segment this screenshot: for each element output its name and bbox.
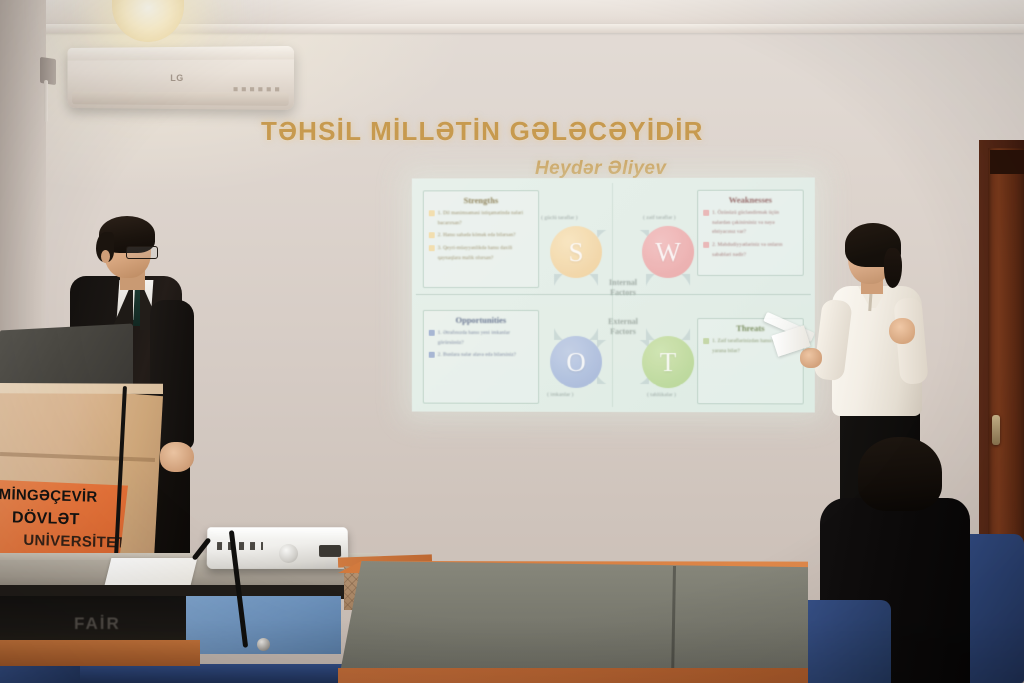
male-clasped-hands bbox=[160, 442, 194, 472]
ac-drain-pipe bbox=[44, 80, 48, 122]
slide-headline: TƏHSİL MİLLƏTİN GƏLƏCƏYİDİR bbox=[261, 116, 691, 147]
weaknesses-bracket-label: ( zəif tərəflər ) bbox=[643, 215, 676, 221]
opportunities-item-2: 2. Bunlara nələr əlavə edə bilərsiniz? bbox=[438, 351, 516, 361]
glasses-icon bbox=[126, 246, 158, 259]
stage-platform bbox=[338, 561, 808, 683]
external-factors-label: External Factors bbox=[583, 317, 663, 337]
list-item: 1. Özünüzü gücləndirmək üçün nələrdən çə… bbox=[703, 209, 798, 238]
opportunities-heading: Opportunities bbox=[429, 315, 533, 325]
female-gesturing-hand bbox=[889, 318, 915, 344]
swot-circle-t: T bbox=[642, 336, 694, 388]
ac-vent-louver bbox=[72, 92, 289, 106]
strengths-item-2: 2. Hansı sahədə kömək edə bilərsən? bbox=[438, 231, 516, 241]
slide-attribution: Heydər Əliyev bbox=[535, 158, 666, 180]
air-conditioner: LG bbox=[67, 46, 294, 110]
opportunities-bracket-label: ( imkanlar ) bbox=[547, 392, 573, 398]
table-wood-base bbox=[0, 640, 200, 666]
list-item: 2. Məhdudiyyətləriniz və onların səbəblə… bbox=[703, 241, 798, 260]
weaknesses-heading: Weaknesses bbox=[703, 195, 798, 205]
ac-indicator-lights bbox=[234, 87, 280, 91]
bullet-icon bbox=[429, 210, 435, 216]
quadrant-opportunities: Opportunities 1. Ətrafınızda hansı yeni … bbox=[423, 310, 539, 404]
strengths-bracket-label: ( güclü tərəflər ) bbox=[541, 215, 577, 221]
desk-label: FAİR bbox=[74, 614, 121, 634]
ac-brand-label: LG bbox=[170, 73, 183, 83]
weaknesses-item-1: 1. Özünüzü gücləndirmək üçün nələrdən çə… bbox=[712, 209, 797, 238]
weaknesses-item-2: 2. Məhdudiyyətləriniz və onların səbəblə… bbox=[712, 241, 797, 260]
bullet-icon bbox=[429, 245, 435, 251]
opportunities-item-1: 1. Ətrafınızda hansı yeni imkanlar görür… bbox=[438, 329, 533, 348]
list-item: 2. Bunlara nələr əlavə edə bilərsiniz? bbox=[429, 351, 533, 361]
bullet-icon bbox=[429, 330, 435, 336]
ac-wall-bracket bbox=[40, 57, 56, 85]
projector-connector-panel bbox=[319, 545, 341, 557]
projector-vent-grille bbox=[279, 544, 298, 563]
swot-circle-w: W bbox=[642, 226, 694, 278]
door-top-shadow bbox=[990, 150, 1024, 174]
bullet-icon bbox=[703, 210, 709, 216]
bullet-icon bbox=[429, 232, 435, 238]
quadrant-strengths: Strengths 1. Dil mənimsəməsi istiqamətin… bbox=[423, 190, 539, 288]
list-item: 3. Qeyri-müəyyənlikdə hansı daxili qayna… bbox=[429, 244, 533, 263]
quadrant-weaknesses: Weaknesses 1. Özünüzü gücləndirmək üçün … bbox=[697, 190, 804, 276]
audience-chair-middle bbox=[795, 600, 891, 683]
swot-circle-s: S bbox=[550, 226, 602, 278]
bullet-icon bbox=[703, 338, 709, 344]
threats-bracket-label: ( təhlükələr ) bbox=[647, 392, 676, 398]
strengths-item-3: 3. Qeyri-müəyyənlikdə hansı daxili qayna… bbox=[438, 244, 533, 263]
podium-top-surface bbox=[0, 324, 133, 392]
banner-line-3: UNİVERSİTETİ bbox=[0, 529, 128, 555]
video-projector bbox=[207, 527, 349, 569]
lecture-room-photo: LG TƏHSİL MİLLƏTİN GƏLƏCƏYİDİR Heydər Əl… bbox=[0, 0, 1024, 683]
banner-text: MİNGƏÇEVİR DÖVLƏT UNİVERSİTETİ bbox=[0, 484, 128, 555]
list-item: 1. Dil mənimsəməsi istiqamətində nələri … bbox=[429, 209, 533, 228]
strengths-item-1: 1. Dil mənimsəməsi istiqamətində nələri … bbox=[438, 209, 533, 228]
list-item: 2. Hansı sahədə kömək edə bilərsən? bbox=[429, 231, 533, 241]
paper-on-table bbox=[105, 558, 198, 585]
strengths-heading: Strengths bbox=[429, 195, 533, 205]
projected-swot-slide: Strengths 1. Dil mənimsəməsi istiqamətin… bbox=[412, 178, 815, 413]
female-hand-holding-papers bbox=[800, 348, 822, 368]
bullet-icon bbox=[703, 242, 709, 248]
male-ear bbox=[101, 250, 110, 263]
door-handle[interactable] bbox=[992, 415, 1000, 445]
platform-bottom-trim bbox=[338, 668, 808, 683]
swot-circle-o: O bbox=[550, 336, 602, 388]
internal-factors-label: Internal Factors bbox=[583, 278, 663, 298]
cabinet-knob[interactable] bbox=[257, 638, 270, 651]
projector-ports bbox=[217, 542, 263, 550]
seated-person-head bbox=[858, 437, 942, 511]
room-door[interactable] bbox=[988, 148, 1024, 560]
ac-top-panel bbox=[67, 46, 294, 61]
podium-edge bbox=[0, 383, 163, 394]
bullet-icon bbox=[429, 352, 435, 358]
list-item: 1. Ətrafınızda hansı yeni imkanlar görür… bbox=[429, 329, 533, 348]
